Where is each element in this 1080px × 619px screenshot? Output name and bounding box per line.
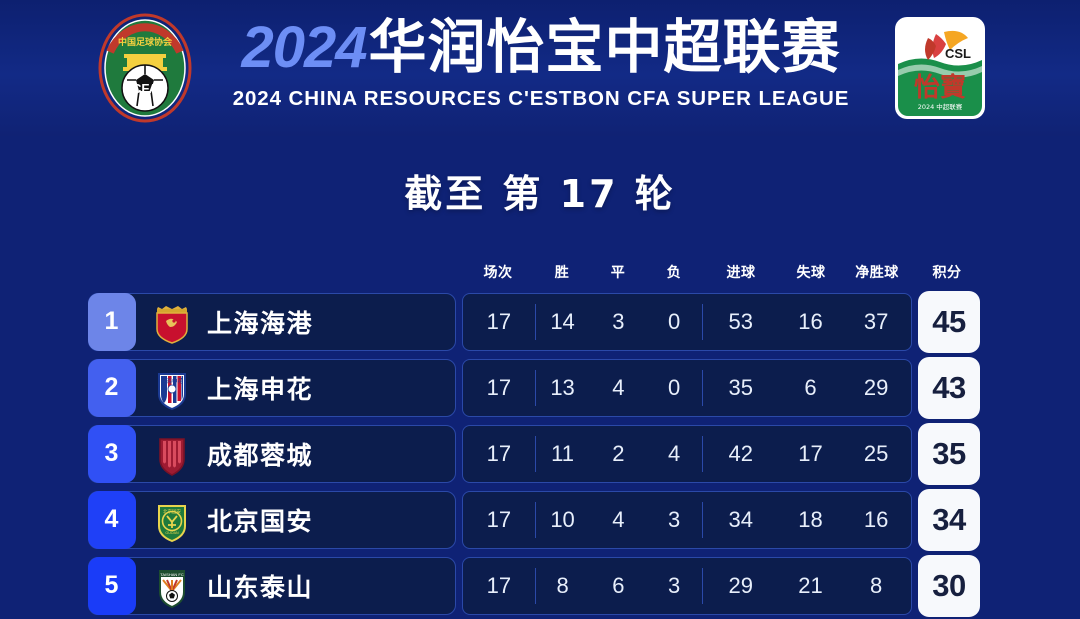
stat-win: 13 [535, 375, 591, 401]
column-header-played: 场次 [462, 262, 534, 282]
team-cell[interactable]: 3 成都蓉城 [88, 425, 456, 483]
rank-badge: 3 [88, 425, 136, 483]
team-name: 上海申花 [207, 370, 313, 406]
team-cell[interactable]: 5 TAISHAN FC 山东泰山 [88, 557, 456, 615]
svg-text:2024 中超联赛: 2024 中超联赛 [918, 102, 963, 111]
stat-points: 45 [918, 291, 980, 353]
page-title: 截至 第 17 轮 [0, 163, 1080, 218]
svg-text:CSL: CSL [945, 46, 971, 61]
svg-text:TAISHAN FC: TAISHAN FC [160, 572, 184, 577]
rank-badge: 4 [88, 491, 136, 549]
table-row[interactable]: 2 上海申花 上海申花 17 13 4 0 35 6 [0, 355, 1080, 421]
stat-goals-against: 17 [780, 441, 842, 467]
cfa-logo-icon: 中国足球协会 CFA [96, 12, 194, 124]
column-header-goal-diff: 净胜球 [842, 262, 912, 282]
stat-goals-against: 6 [780, 375, 842, 401]
stat-points: 35 [918, 423, 980, 485]
table-row[interactable]: 1 上海海港 17 14 3 0 53 16 37 45 [0, 289, 1080, 355]
stat-goal-diff: 29 [841, 375, 911, 401]
team-badge-beijing-guoan-icon: 北京国安 GUOAN [151, 501, 193, 543]
stat-goals-for: 34 [702, 507, 780, 533]
stat-draw: 2 [590, 441, 646, 467]
league-title-cn: 2024华润怡宝中超联赛 [196, 10, 886, 85]
team-stats: 17 11 2 4 42 17 25 [462, 425, 912, 483]
table-header-row: 场次 胜 平 负 进球 失球 净胜球 积分 [462, 255, 982, 289]
table-row[interactable]: 3 成都蓉城 17 11 2 4 42 17 25 35 [0, 421, 1080, 487]
standings-table: 场次 胜 平 负 进球 失球 净胜球 积分 1 上海海港 17 14 [0, 255, 1080, 619]
stat-points: 43 [918, 357, 980, 419]
league-title-en: 2024 CHINA RESOURCES C'ESTBON CFA SUPER … [196, 87, 886, 111]
stat-draw: 6 [590, 573, 646, 599]
sponsor-logo-icon: CSL 怡寶 2024 中超联赛 [895, 17, 985, 119]
stat-win: 11 [535, 441, 591, 467]
stat-points: 30 [918, 555, 980, 617]
team-stats: 17 8 6 3 29 21 8 [462, 557, 912, 615]
column-header-draw: 平 [590, 262, 646, 282]
team-name: 山东泰山 [207, 568, 313, 604]
svg-text:上海申花: 上海申花 [161, 377, 184, 385]
team-cell[interactable]: 4 北京国安 GUOAN 北京国安 [88, 491, 456, 549]
stat-goal-diff: 25 [841, 441, 911, 467]
stat-goals-for: 35 [702, 375, 780, 401]
team-badge-shandong-taishan-icon: TAISHAN FC [151, 567, 193, 609]
stat-draw: 3 [590, 309, 646, 335]
stat-goals-for: 42 [702, 441, 780, 467]
stat-loss: 3 [646, 507, 702, 533]
stat-win: 14 [535, 309, 591, 335]
team-name: 北京国安 [207, 502, 313, 538]
column-header-points: 积分 [912, 262, 982, 282]
league-title-cn-text: 华润怡宝中超联赛 [369, 13, 841, 81]
header-banner: 中国足球协会 CFA 2024华润怡宝中超联赛 2024 CHINA RESOU… [0, 0, 1080, 136]
team-cell[interactable]: 1 上海海港 [88, 293, 456, 351]
rank-badge: 1 [88, 293, 136, 351]
column-header-goals-for: 进球 [702, 262, 780, 282]
stat-played: 17 [463, 309, 535, 335]
rank-badge: 2 [88, 359, 136, 417]
stat-points: 34 [918, 489, 980, 551]
column-header-loss: 负 [646, 262, 702, 282]
league-title-block: 2024华润怡宝中超联赛 2024 CHINA RESOURCES C'ESTB… [196, 10, 886, 126]
stat-draw: 4 [590, 507, 646, 533]
stat-goal-diff: 37 [841, 309, 911, 335]
svg-text:北京国安: 北京国安 [163, 508, 181, 515]
stat-win: 8 [535, 573, 591, 599]
column-header-goals-against: 失球 [780, 262, 842, 282]
svg-text:怡寶: 怡寶 [914, 72, 966, 103]
stat-draw: 4 [590, 375, 646, 401]
stat-played: 17 [463, 375, 535, 401]
stat-goals-for: 53 [702, 309, 780, 335]
column-header-win: 胜 [534, 262, 590, 282]
stat-goals-against: 18 [780, 507, 842, 533]
team-badge-chengdu-rongcheng-icon [151, 435, 193, 477]
team-stats: 17 13 4 0 35 6 29 [462, 359, 912, 417]
svg-text:中国足球协会: 中国足球协会 [118, 36, 173, 48]
team-stats: 17 10 4 3 34 18 16 [462, 491, 912, 549]
team-name: 上海海港 [207, 304, 313, 340]
stat-goals-against: 21 [780, 573, 842, 599]
stat-goal-diff: 8 [841, 573, 911, 599]
stat-played: 17 [463, 441, 535, 467]
team-name: 成都蓉城 [207, 436, 313, 472]
team-badge-shanghai-port-icon [151, 303, 193, 345]
svg-text:GUOAN: GUOAN [165, 531, 179, 535]
stat-goal-diff: 16 [841, 507, 911, 533]
table-row[interactable]: 5 TAISHAN FC 山东泰山 17 8 6 3 29 [0, 553, 1080, 619]
stat-loss: 4 [646, 441, 702, 467]
stat-played: 17 [463, 507, 535, 533]
team-badge-shanghai-shenhua-icon: 上海申花 [151, 369, 193, 411]
stat-loss: 0 [646, 309, 702, 335]
stat-played: 17 [463, 573, 535, 599]
stat-goals-against: 16 [780, 309, 842, 335]
league-year: 2024 [241, 15, 366, 80]
svg-text:CFA: CFA [132, 81, 159, 96]
stat-win: 10 [535, 507, 591, 533]
rank-badge: 5 [88, 557, 136, 615]
stat-loss: 3 [646, 573, 702, 599]
stat-goals-for: 29 [702, 573, 780, 599]
stat-loss: 0 [646, 375, 702, 401]
table-row[interactable]: 4 北京国安 GUOAN 北京国安 17 10 4 3 34 18 16 34 [0, 487, 1080, 553]
team-cell[interactable]: 2 上海申花 上海申花 [88, 359, 456, 417]
team-stats: 17 14 3 0 53 16 37 [462, 293, 912, 351]
